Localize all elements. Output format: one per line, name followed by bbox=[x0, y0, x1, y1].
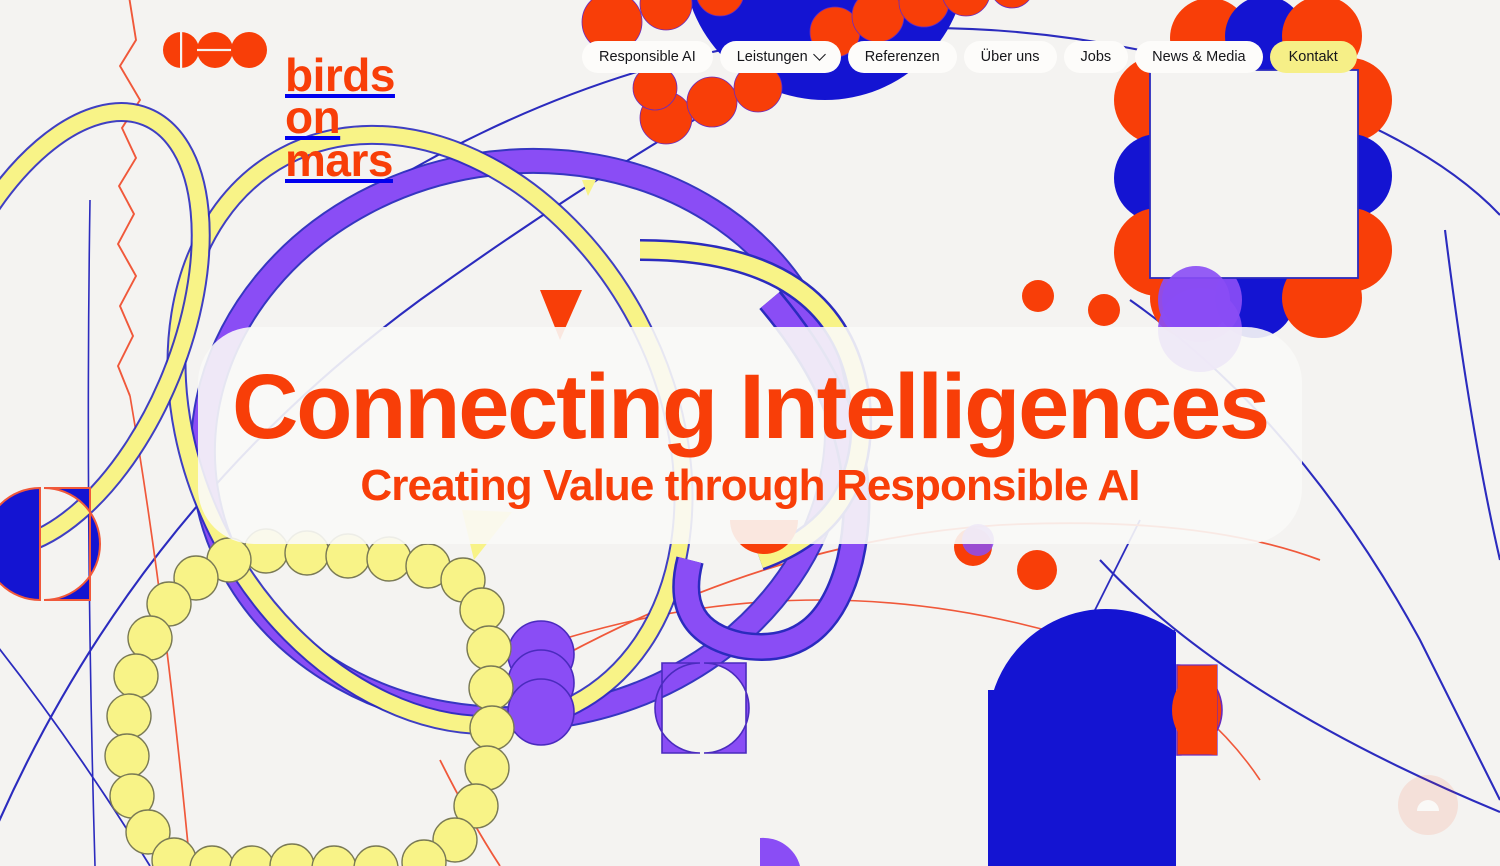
small-orange-dot-right bbox=[1088, 294, 1120, 326]
nav-label: Referenzen bbox=[865, 49, 940, 65]
orange-dot-2 bbox=[1017, 550, 1057, 590]
nav-label: Responsible AI bbox=[599, 49, 696, 65]
nav-label: Über uns bbox=[981, 49, 1040, 65]
three-circles-logo-mark bbox=[163, 32, 267, 68]
nav-item-ueber-uns[interactable]: Über uns bbox=[964, 41, 1057, 73]
nav-item-kontakt[interactable]: Kontakt bbox=[1270, 41, 1357, 73]
nav-item-leistungen[interactable]: Leistungen bbox=[720, 41, 841, 73]
purple-stacked-circles bbox=[508, 621, 574, 745]
logo-wordmark: birds on mars bbox=[285, 54, 395, 181]
purple-circle-near-square bbox=[1162, 266, 1230, 334]
chevron-down-icon bbox=[813, 48, 826, 61]
logo[interactable]: birds on mars bbox=[163, 32, 395, 181]
nav-label: Leistungen bbox=[737, 49, 808, 65]
chat-bubble-shape bbox=[1417, 800, 1439, 811]
nav-item-referenzen[interactable]: Referenzen bbox=[848, 41, 957, 73]
main-navigation: Responsible AI Leistungen Referenzen Übe… bbox=[582, 41, 1357, 73]
nav-item-news-media[interactable]: News & Media bbox=[1135, 41, 1262, 73]
small-orange-dot-right-2 bbox=[1022, 280, 1054, 312]
nav-item-jobs[interactable]: Jobs bbox=[1064, 41, 1129, 73]
nav-label: Kontakt bbox=[1289, 49, 1338, 65]
nav-label: News & Media bbox=[1152, 49, 1245, 65]
chat-bubble-icon[interactable] bbox=[1398, 775, 1458, 835]
nav-label: Jobs bbox=[1081, 49, 1112, 65]
purple-dot-overlap bbox=[962, 524, 994, 556]
page-root: birds on mars Responsible AI Leistungen … bbox=[0, 0, 1500, 866]
nav-item-responsible-ai[interactable]: Responsible AI bbox=[582, 41, 713, 73]
